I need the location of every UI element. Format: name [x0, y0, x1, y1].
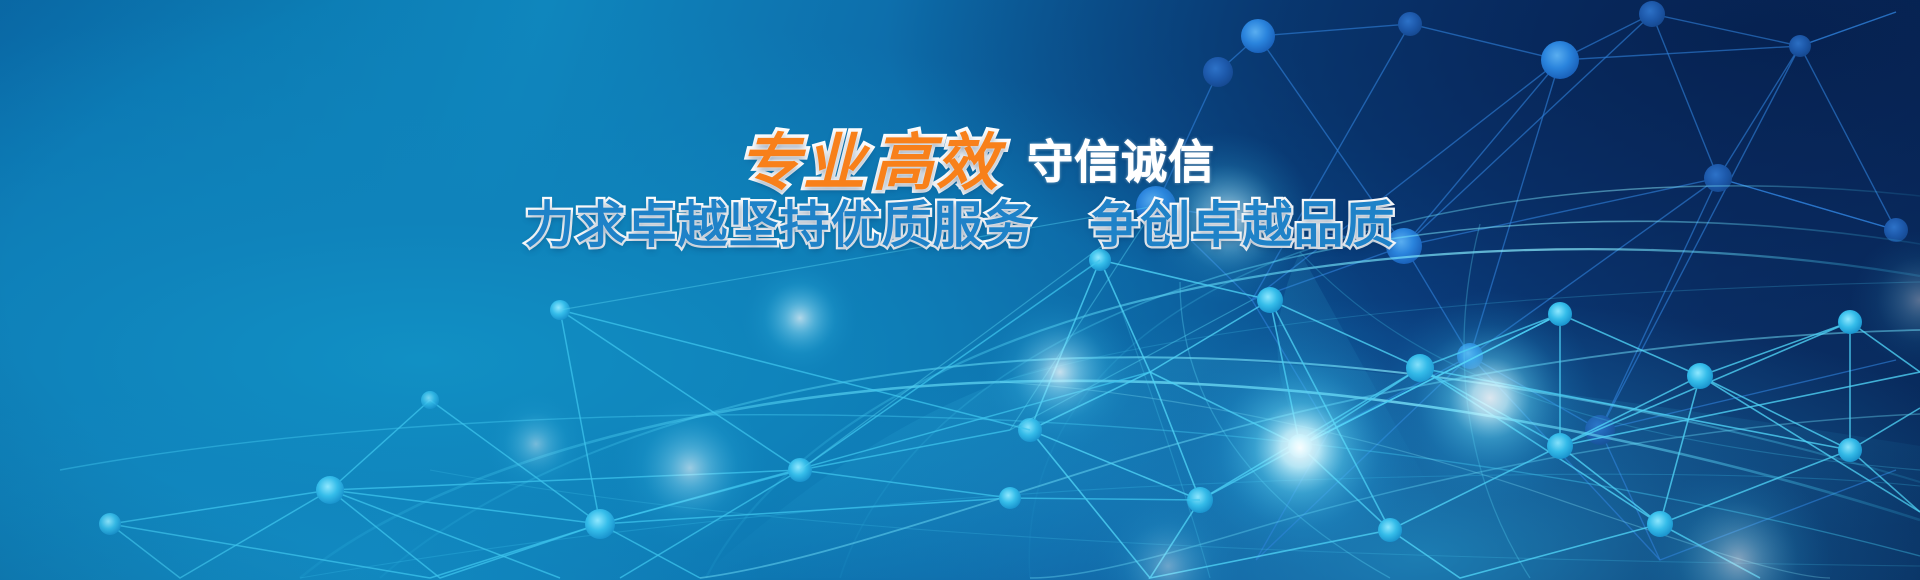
hero-banner: 专业 高效 守信诚信 力求卓越坚持优质服务 争创卓越品质	[0, 0, 1920, 580]
background-vignette	[0, 0, 1920, 580]
